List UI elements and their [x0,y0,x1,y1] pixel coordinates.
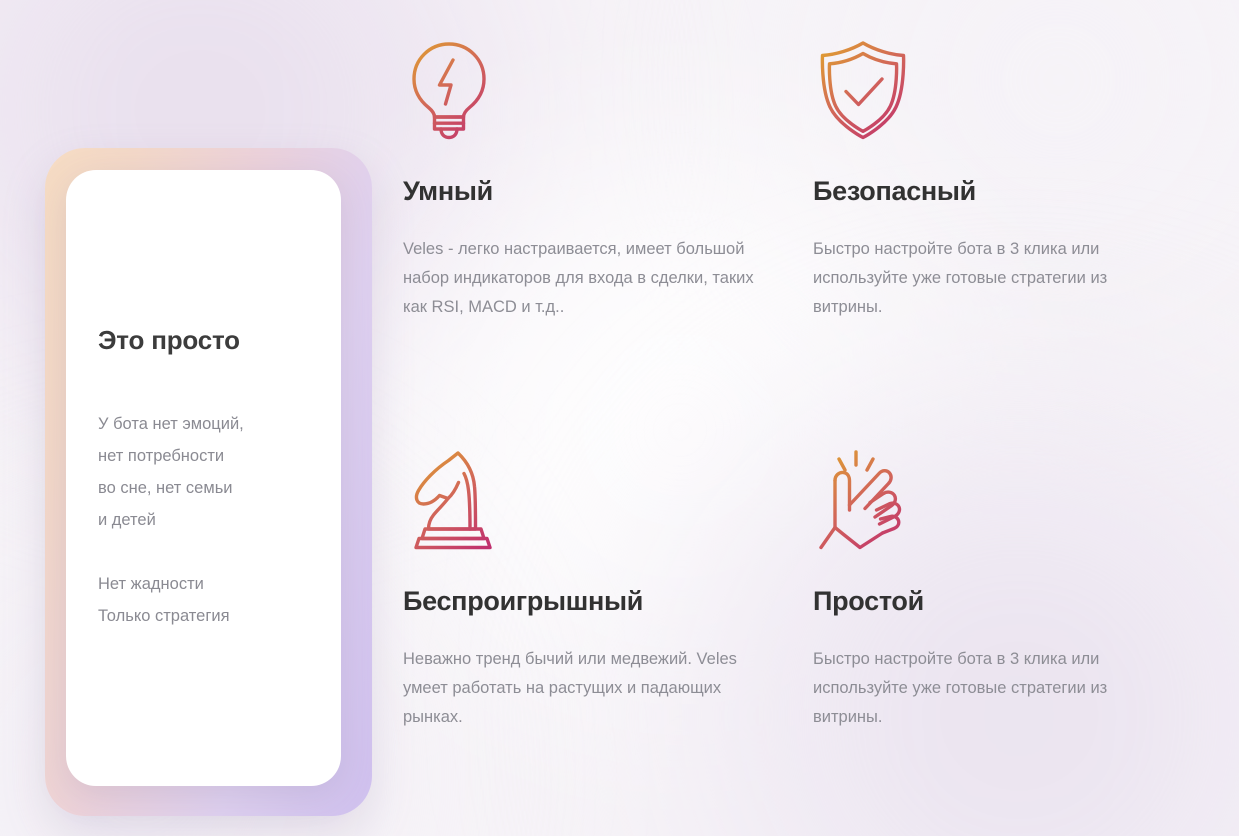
feature-item-winning: Беспроигрышный Неважно тренд бычий или м… [403,448,758,732]
feature-text-secure: Быстро настройте бота в 3 клика или испо… [813,235,1168,322]
feature-text-simple: Быстро настройте бота в 3 клика или испо… [813,645,1168,732]
feature-item-simple: Простой Быстро настройте бота в 3 клика … [813,448,1168,732]
promo-card-paragraph-1: У бота нет эмоций,нет потребностиво сне,… [98,408,309,536]
feature-title-smart: Умный [403,176,758,207]
feature-item-smart: Умный Veles - легко настраивается, имеет… [403,38,758,448]
promo-card: Это просто У бота нет эмоций,нет потребн… [66,170,341,786]
feature-grid: Умный Veles - легко настраивается, имеет… [403,38,1203,732]
feature-title-simple: Простой [813,586,1168,617]
page-stage: Это просто У бота нет эмоций,нет потребн… [0,0,1239,836]
shield-check-icon [813,38,1168,142]
promo-card-title: Это просто [98,325,309,356]
promo-card-paragraph-2: Нет жадностиТолько стратегия [98,568,309,632]
chess-knight-icon [403,448,758,552]
feature-text-smart: Veles - легко настраивается, имеет больш… [403,235,758,322]
feature-text-winning: Неважно тренд бычий или медвежий. Veles … [403,645,758,732]
feature-title-winning: Беспроигрышный [403,586,758,617]
lightbulb-icon [403,38,758,142]
tap-hand-icon [813,448,1168,552]
feature-title-secure: Безопасный [813,176,1168,207]
feature-item-secure: Безопасный Быстро настройте бота в 3 кли… [813,38,1168,448]
